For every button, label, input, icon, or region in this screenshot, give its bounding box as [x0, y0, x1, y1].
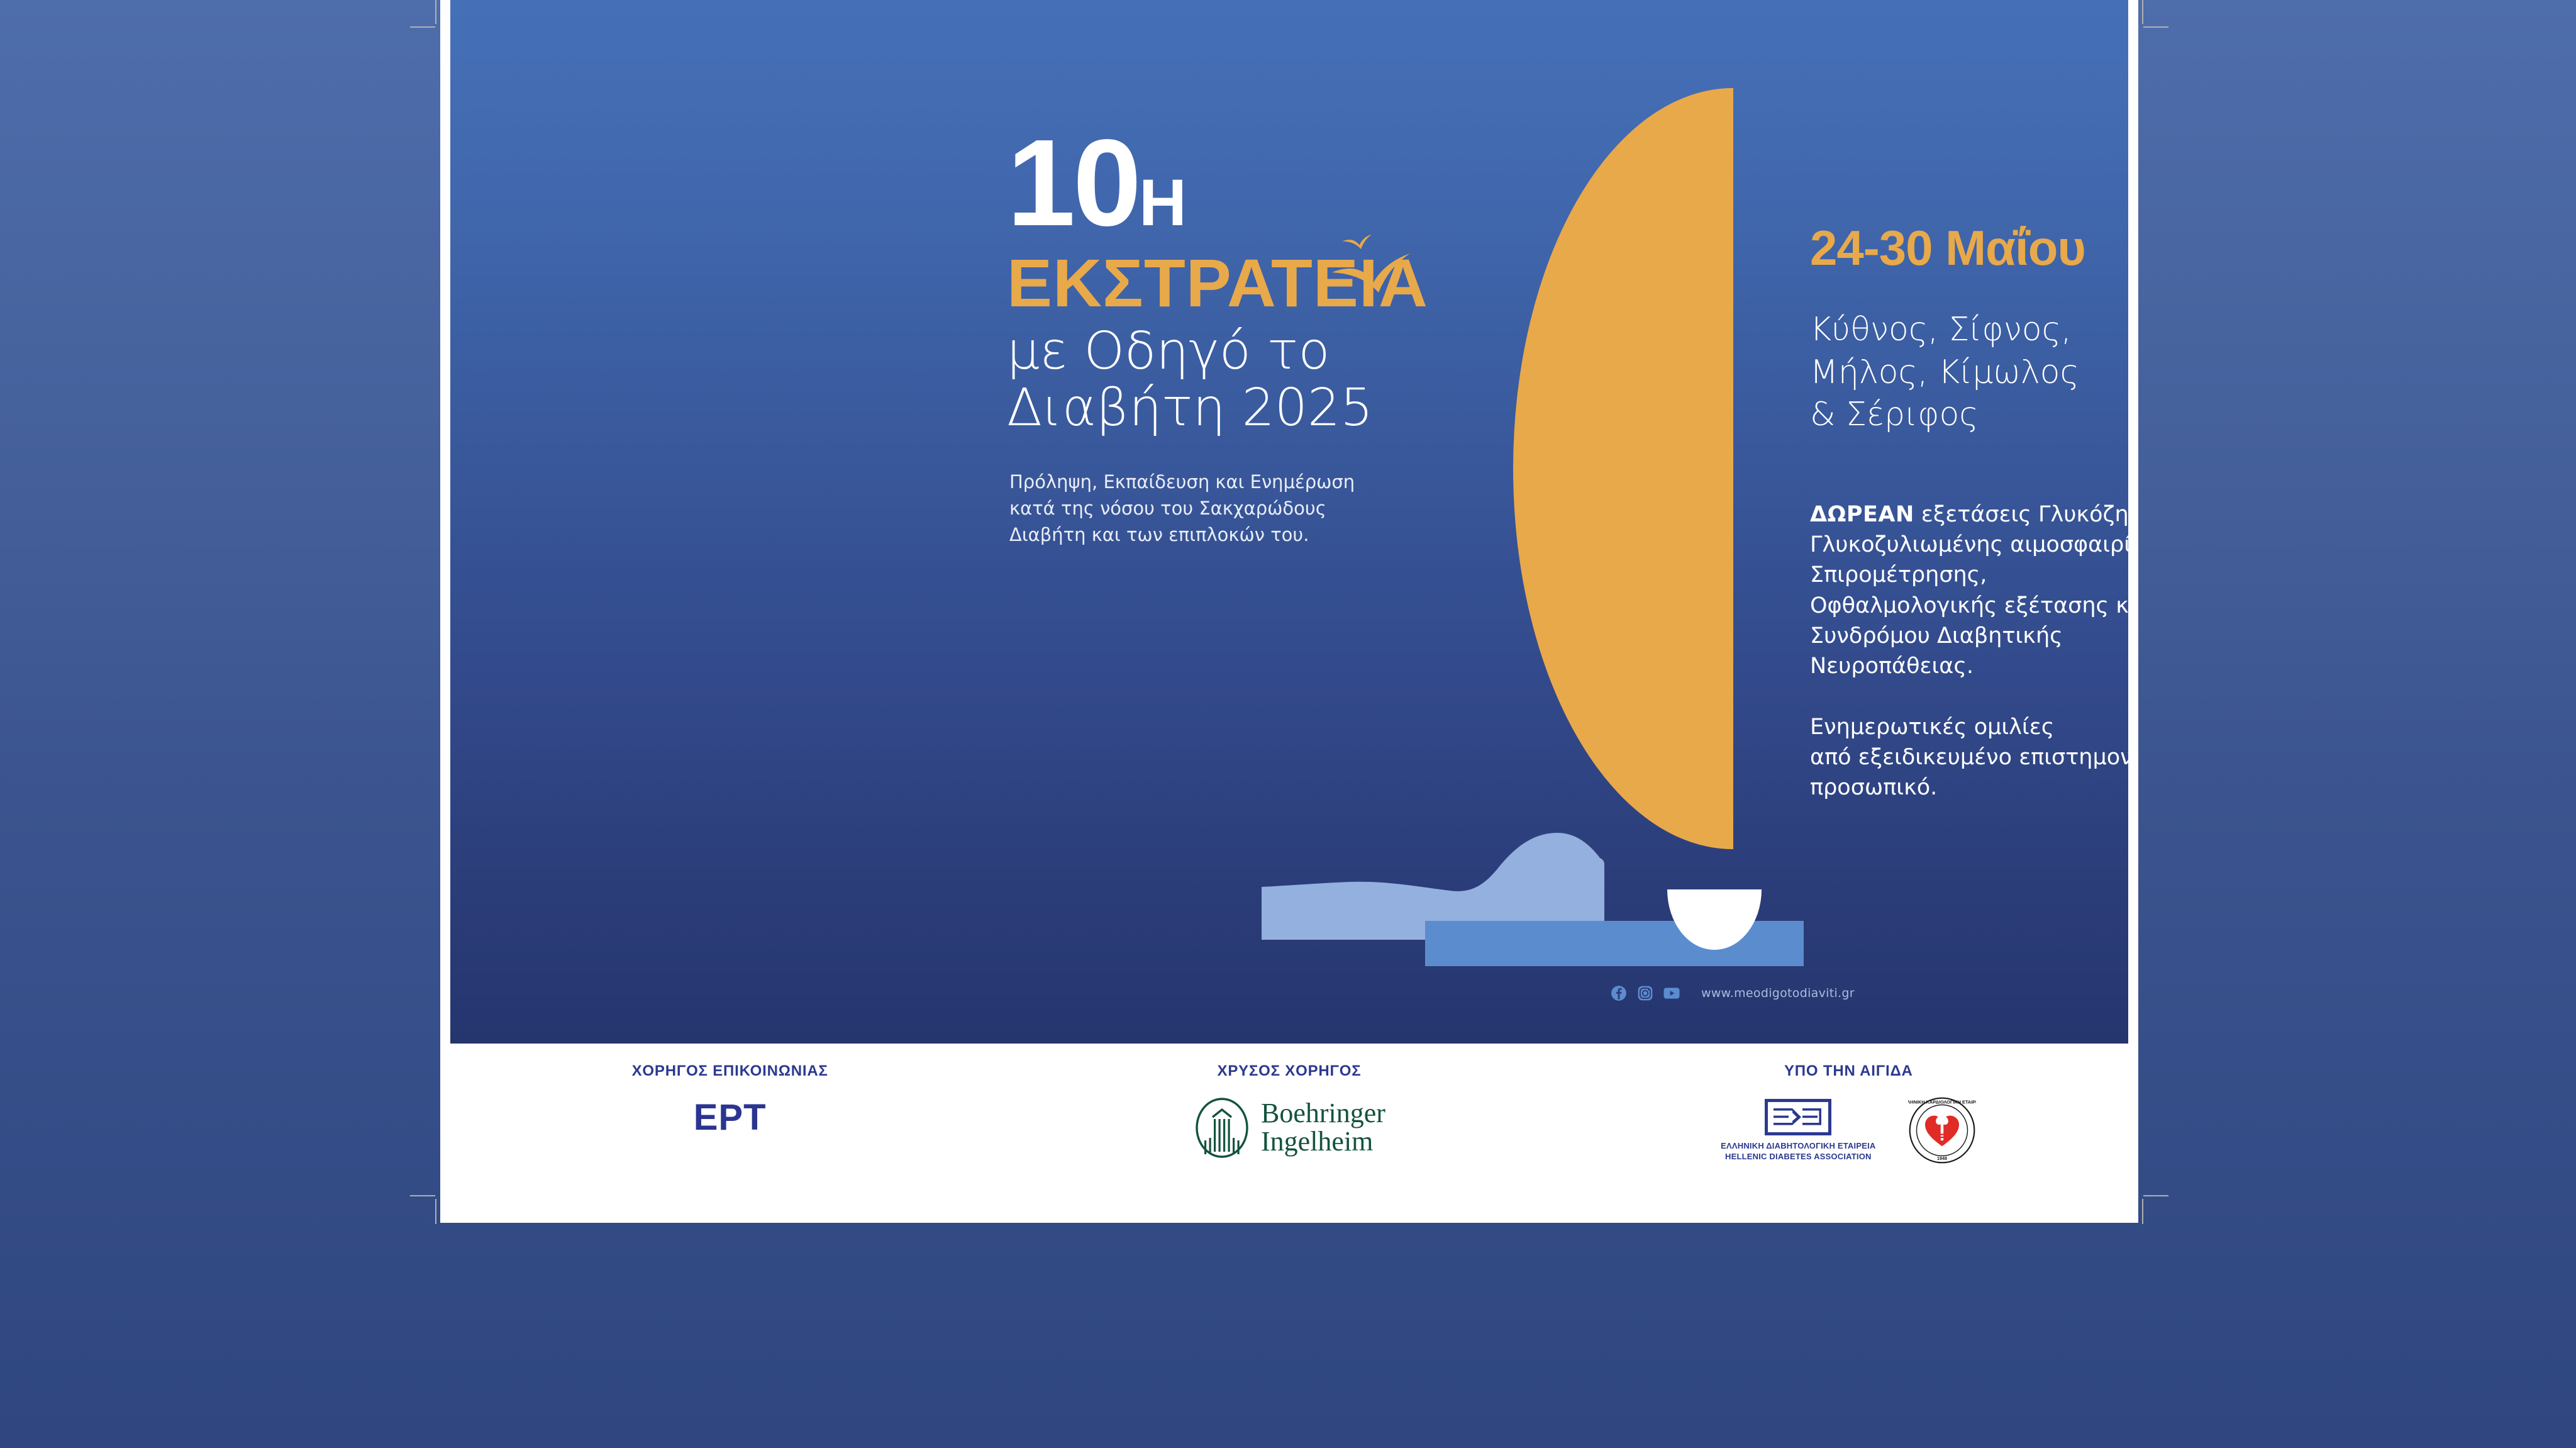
sponsor-title-communication: ΧΟΡΗΓΟΣ ΕΠΙΚΟΙΝΩΝΙΑΣ	[632, 1062, 828, 1080]
boehringer-ingelheim-wordmark: Boehringer Ingelheim	[1261, 1100, 1385, 1156]
sponsor-block-aegis: ΥΠΟ ΤΗΝ ΑΙΓΙΔΑ	[1569, 1044, 2128, 1184]
headline-edition-number: 10Η	[1007, 126, 1485, 240]
ert-logo: ΕΡΤ	[694, 1096, 767, 1139]
sponsor-logos-communication: ΕΡΤ	[694, 1096, 767, 1139]
gold-sail-shape	[1513, 88, 1733, 849]
sponsor-title-gold: ΧΡΥΣΟΣ ΧΟΡΗΓΟΣ	[1218, 1062, 1362, 1080]
crop-mark-bottom-right-h	[2143, 1195, 2168, 1196]
sponsor-title-aegis: ΥΠΟ ΤΗΝ ΑΙΓΙΔΑ	[1784, 1062, 1913, 1080]
poster-right-column: 24-30 Μαΐου Κύθνος, Σίφνος, Μήλος, Κίμωλ…	[1810, 223, 2128, 803]
crop-mark-top-left-h	[410, 26, 435, 28]
crop-mark-top-right-h	[2143, 26, 2168, 28]
headline-number-value: 10	[1007, 114, 1139, 252]
facebook-icon[interactable]	[1611, 985, 1627, 1001]
sponsor-block-communication: ΧΟΡΗΓΟΣ ΕΠΙΚΟΙΝΩΝΙΑΣ ΕΡΤ	[450, 1044, 1009, 1184]
sponsor-logos-gold: Boehringer Ingelheim	[1193, 1096, 1385, 1159]
hellenic-diabetes-association-logo: ΕΛΛΗΝΙΚΗ ΔΙΑΒΗΤΟΛΟΓΙΚΗ ΕΤΑΙΡΕΙΑ HELLENIC…	[1721, 1099, 1875, 1162]
crop-mark-top-right-v	[2142, 0, 2143, 24]
event-locations: Κύθνος, Σίφνος, Μήλος, Κίμωλος & Σέριφος	[1810, 309, 2128, 437]
headline-keyword: ΕΚΣΤΡΑΤΕΙΑ	[1007, 249, 1485, 317]
boehringer-ingelheim-logo: Boehringer Ingelheim	[1193, 1096, 1385, 1159]
event-dates: 24-30 Μαΐου	[1810, 223, 2128, 272]
poster-left-column: 10Η ΕΚΣΤΡΑΤΕΙΑ με Οδηγό το Διαβήτη 2025 …	[1007, 126, 1485, 549]
boehringer-building-icon	[1193, 1096, 1251, 1159]
social-links-strip: www.meodigotodiaviti.gr	[1611, 985, 1855, 1001]
free-services-text: ΔΩΡΕΑΝ εξετάσεις Γλυκόζης, Γλυκοζυλιωμέν…	[1810, 499, 2128, 682]
informational-talks-text: Ενημερωτικές ομιλίες από εξειδικευμένο ε…	[1810, 712, 2128, 803]
hcs-year: 1948	[1937, 1156, 1947, 1161]
campaign-blurb: Πρόληψη, Εκπαίδευση και Ενημέρωση κατά τ…	[1009, 469, 1485, 549]
crop-mark-bottom-left-v	[435, 1199, 436, 1224]
headline-subtitle: με Οδηγό το Διαβήτη 2025	[1007, 323, 1485, 437]
youtube-icon[interactable]	[1663, 985, 1680, 1001]
crop-mark-top-left-v	[435, 0, 436, 24]
instagram-icon[interactable]	[1637, 985, 1653, 1001]
sponsor-logos-aegis: ΕΛΛΗΝΙΚΗ ΔΙΑΒΗΤΟΛΟΓΙΚΗ ΕΤΑΙΡΕΙΑ HELLENIC…	[1721, 1096, 1976, 1164]
document-viewer: 10Η ΕΚΣΤΡΑΤΕΙΑ με Οδηγό το Διαβήτη 2025 …	[0, 0, 2576, 1448]
sponsor-block-gold: ΧΡΥΣΟΣ ΧΟΡΗΓΟΣ Boehrin	[1009, 1044, 1568, 1184]
free-services-lead: ΔΩΡΕΑΝ	[1810, 502, 1914, 527]
hcs-ring-text: ΕΛΛΗΝΙΚΗ ΚΑΡΔΙΟΛΟΓΙΚΗ ΕΤΑΙΡΕΙΑ	[1908, 1100, 1976, 1105]
sponsor-footer: ΧΟΡΗΓΟΣ ΕΠΙΚΟΙΝΩΝΙΑΣ ΕΡΤ ΧΡΥΣΟΣ ΧΟΡΗΓΟΣ	[450, 1044, 2128, 1184]
free-services-rest: εξετάσεις Γλυκόζης, Γλυκοζυλιωμένης αιμο…	[1810, 502, 2128, 679]
hda-eae-monogram-icon	[1774, 1107, 1823, 1127]
crop-mark-bottom-right-v	[2142, 1199, 2143, 1224]
headline-ordinal-suffix: Η	[1139, 166, 1187, 240]
poster-artboard: 10Η ΕΚΣΤΡΑΤΕΙΑ με Οδηγό το Διαβήτη 2025 …	[450, 0, 2128, 1044]
hda-emblem-icon	[1765, 1099, 1831, 1135]
hda-caption: ΕΛΛΗΝΙΚΗ ΔΙΑΒΗΤΟΛΟΓΙΚΗ ΕΤΑΙΡΕΙΑ HELLENIC…	[1721, 1141, 1875, 1162]
hellenic-cardiological-society-logo: ΕΛΛΗΝΙΚΗ ΚΑΡΔΙΟΛΟΓΙΚΗ ΕΤΑΙΡΕΙΑ 1948	[1908, 1096, 1976, 1164]
crop-mark-bottom-left-h	[410, 1195, 435, 1196]
website-url[interactable]: www.meodigotodiaviti.gr	[1701, 986, 1855, 1000]
